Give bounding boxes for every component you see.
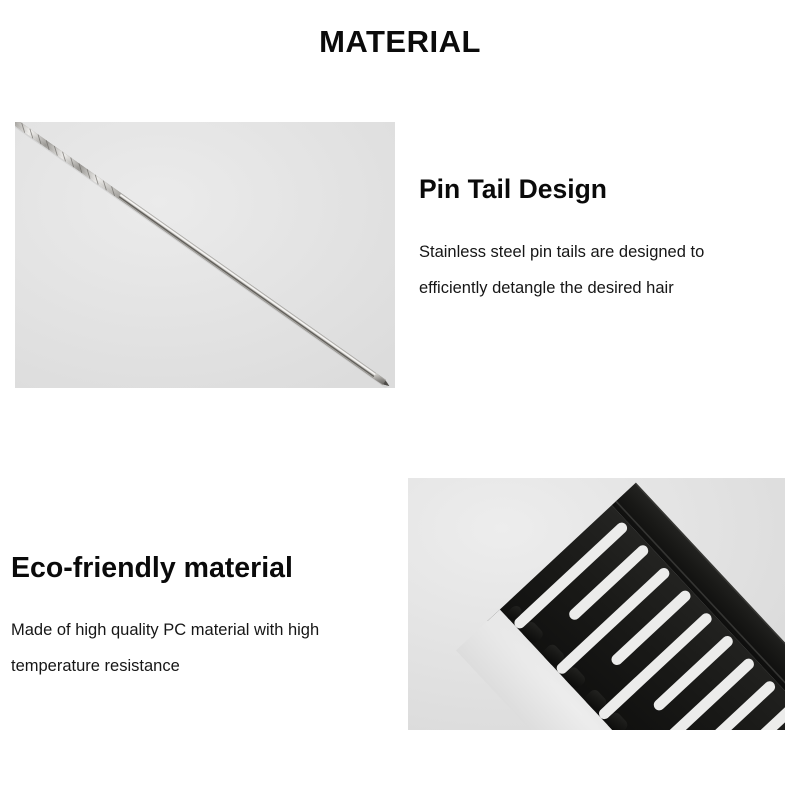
comb-illustration xyxy=(408,478,785,730)
comb-teeth-photo xyxy=(408,478,785,730)
eco-friendly-description: Made of high quality PC material with hi… xyxy=(11,612,401,684)
pin-tail-heading: Pin Tail Design xyxy=(419,172,607,206)
pin-tail-illustration xyxy=(15,122,395,388)
pin-tail-description-line-2: efficiently detangle the desired hair xyxy=(419,270,789,306)
eco-friendly-heading: Eco-friendly material xyxy=(11,550,293,586)
eco-friendly-description-line-1: Made of high quality PC material with hi… xyxy=(11,612,401,648)
pin-tail-description-line-1: Stainless steel pin tails are designed t… xyxy=(419,234,789,270)
page-title: MATERIAL xyxy=(0,22,800,62)
pin-tail-description: Stainless steel pin tails are designed t… xyxy=(419,234,789,306)
eco-friendly-description-line-2: temperature resistance xyxy=(11,648,401,684)
material-infographic: MATERIAL xyxy=(0,0,800,800)
pin-tail-photo xyxy=(15,122,395,388)
